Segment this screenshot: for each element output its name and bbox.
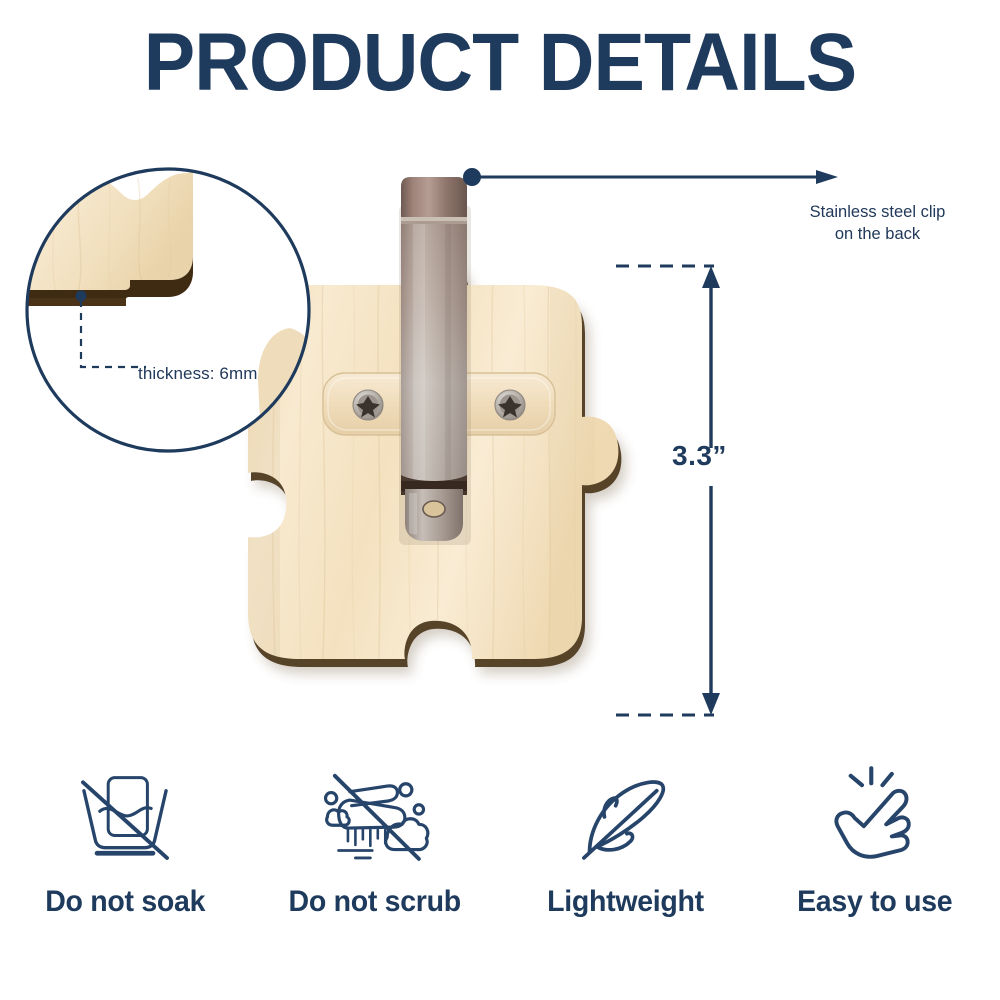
thickness-magnifier: thickness: 6mm [18,160,318,460]
stainless-steel-clip [395,175,473,565]
thickness-label: thickness: 6mm [138,364,258,384]
dim-arrow-down-icon [702,693,720,715]
clip-callout-line1: Stainless steel clip [770,202,985,224]
feature-label-do-not-soak: Do not soak [45,885,205,919]
thickness-anchor-dot [76,291,87,302]
clip-callout-line2: on the back [770,224,985,246]
screw-right [495,390,525,420]
feature-label-lightweight: Lightweight [547,885,704,919]
feature-do-not-soak: Do not soak [0,755,250,945]
arrow-head-icon [816,170,838,184]
clip-callout-arrow [462,165,842,189]
clip-callout-text: Stainless steel clip on the back [770,202,985,246]
no-scrub-icon [305,755,445,875]
product-stage: thickness: 6mm Stainless steel clip on t… [0,140,1000,760]
feature-label-do-not-scrub: Do not scrub [289,885,461,919]
feature-easy-to-use: Easy to use [750,755,1000,945]
clip-foot-hole [423,501,445,517]
no-soak-icon [55,755,195,875]
dim-arrow-up-icon [702,266,720,288]
feature-label-easy-to-use: Easy to use [797,885,952,919]
dimension-label: 3.3” [672,440,727,472]
feature-row: Do not soak [0,755,1000,945]
page-title: PRODUCT DETAILS [30,22,970,104]
screw-left [353,390,383,420]
feature-do-not-scrub: Do not scrub [250,755,500,945]
feature-lightweight: Lightweight [500,755,750,945]
height-dimension [610,258,740,723]
hand-tap-icon [805,755,945,875]
clip-top-fold [401,177,467,219]
product-details-infographic: PRODUCT DETAILS [0,0,1000,1000]
feather-icon [555,755,695,875]
